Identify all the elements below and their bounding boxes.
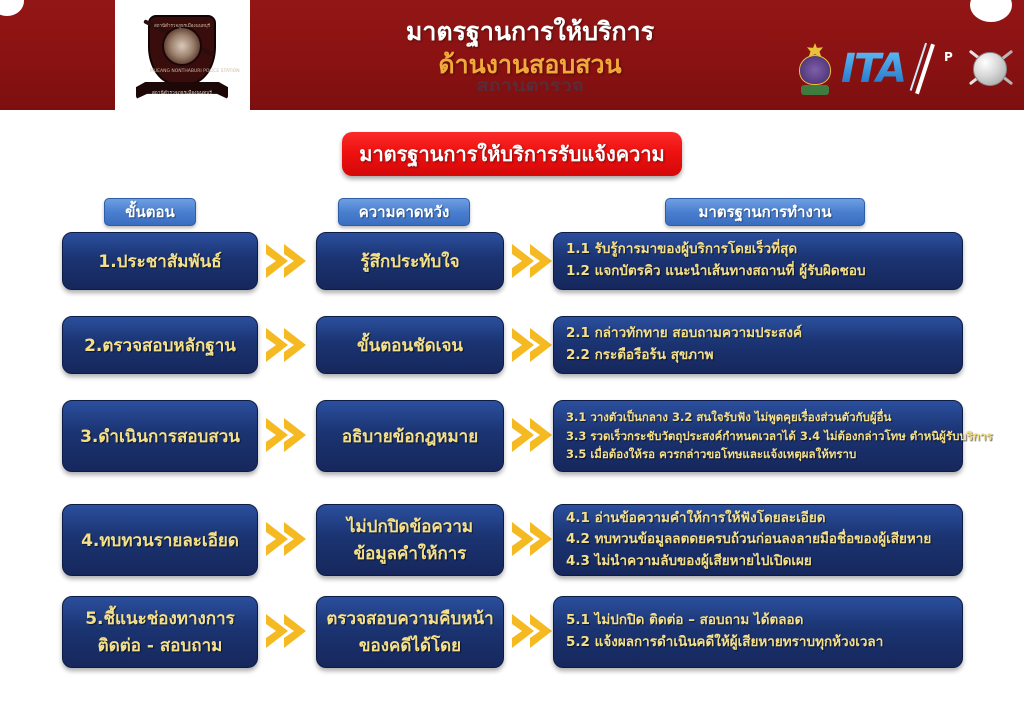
step-label: 1.ประชาสัมพันธ์ (98, 248, 221, 275)
step-cell[interactable]: 2.ตรวจสอบหลักฐาน (62, 316, 258, 374)
work-standard-cell[interactable]: 1.1 รับรู้การมาของผู้บริการโดยเร็วที่สุด… (553, 232, 963, 290)
chevron-right-arrow-icon (262, 238, 308, 284)
chevron-right-arrow-icon (262, 516, 308, 562)
chevron-right-arrow-icon (508, 238, 554, 284)
work-standard-line: 5.2 แจ้งผลการดำเนินคดีให้ผู้เสียหายทราบท… (566, 632, 883, 654)
service-standard-banner: มาตรฐานการให้บริการรับแจ้งความ (342, 132, 682, 176)
diagram-canvas: มาตรฐานการให้บริการรับแจ้งความ ขั้นตอน ค… (0, 110, 1024, 710)
shield-ribbon-text: สถานีตำรวจภูธรเมืองนนทบุรี (136, 89, 228, 96)
process-row: 2.ตรวจสอบหลักฐานขั้นตอนชัดเจน2.1 กล่าวทั… (0, 316, 1024, 374)
shield-arc-top-text: สถานีตำรวจภูธรเมืองนนทบุรี (150, 22, 214, 29)
header-title-group: มาตรฐานการให้บริการ ด้านงานสอบสวน สถานีต… (330, 16, 730, 91)
column-header-steps: ขั้นตอน (104, 198, 196, 226)
page-header: สถานีตำรวจภูธรเมืองนนทบุรี MUEANG NONTHA… (0, 0, 1024, 110)
page-title-secondary: ด้านงานสอบสวน (330, 49, 730, 82)
column-header-expectations: ความคาดหวัง (338, 198, 470, 226)
header-corner-decoration-left (0, 0, 24, 16)
work-standard-line: 1.2 แจกบัตรคิว แนะนำเส้นทางสถานที่ ผู้รั… (566, 261, 866, 283)
work-standard-line: 3.5 เมื่อต้องให้รอ ควรกล่าวขอโทษและแจ้งเ… (566, 445, 856, 464)
chevron-right-arrow-icon (508, 412, 554, 458)
process-row: 1.ประชาสัมพันธ์รู้สึกประทับใจ1.1 รับรู้ก… (0, 232, 1024, 290)
step-cell[interactable]: 3.ดำเนินการสอบสวน (62, 400, 258, 472)
step-cell[interactable]: 5.ชี้แนะช่องทางการติดต่อ - สอบถาม (62, 596, 258, 668)
work-standard-cell[interactable]: 5.1 ไม่ปกปิด ติดต่อ – สอบถาม ได้ตลอด5.2 … (553, 596, 963, 668)
work-standard-line: 4.1 อ่านข้อความคำให้การให้ฟังโดยละเอียด (566, 508, 826, 530)
work-standard-cell[interactable]: 3.1 วางตัวเป็นกลาง 3.2 สนใจรับฟัง ไม่พูด… (553, 400, 963, 472)
expectation-cell[interactable]: ไม่ปกปิดข้อความข้อมูลคำให้การ (316, 504, 504, 576)
ita-superscript-text: P (944, 50, 953, 64)
service-standard-banner-label: มาตรฐานการให้บริการรับแจ้งความ (359, 138, 664, 170)
police-badge-icon (967, 46, 1013, 92)
work-standard-line: 2.2 กระตือรือร้น สุขภาพ (566, 345, 714, 367)
process-row: 4.ทบทวนรายละเอียดไม่ปกปิดข้อความข้อมูลคำ… (0, 504, 1024, 576)
work-standard-cell[interactable]: 4.1 อ่านข้อความคำให้การให้ฟังโดยละเอียด4… (553, 504, 963, 576)
ita-logo-text: ITA (841, 49, 905, 89)
step-label: ติดต่อ - สอบถาม (98, 632, 223, 659)
expectation-label: ของคดีได้โดย (359, 632, 461, 659)
chevron-right-arrow-icon (508, 516, 554, 562)
expectation-cell[interactable]: อธิบายข้อกฎหมาย (316, 400, 504, 472)
step-cell[interactable]: 1.ประชาสัมพันธ์ (62, 232, 258, 290)
expectation-cell[interactable]: รู้สึกประทับใจ (316, 232, 504, 290)
shield-arc-bottom-text: MUEANG NONTHABURI POLICE STATION (150, 69, 214, 74)
work-standard-line: 2.1 กล่าวทักทาย สอบถามความประสงค์ (566, 323, 802, 345)
work-standard-line: 3.3 รวดเร็วกระชับวัตถุประสงค์กำหนดเวลาได… (566, 427, 992, 446)
work-standard-cell[interactable]: 2.1 กล่าวทักทาย สอบถามความประสงค์2.2 กระ… (553, 316, 963, 374)
expectation-label: รู้สึกประทับใจ (360, 248, 459, 275)
header-logo-group: ITA P (795, 38, 1010, 100)
page-title-primary: มาตรฐานการให้บริการ (330, 16, 730, 49)
chevron-right-arrow-icon (262, 608, 308, 654)
chevron-right-arrow-icon (262, 412, 308, 458)
step-label: 2.ตรวจสอบหลักฐาน (84, 332, 236, 359)
process-row: 3.ดำเนินการสอบสวนอธิบายข้อกฎหมาย3.1 วางต… (0, 400, 1024, 472)
expectation-label: ตรวจสอบความคืบหน้า (326, 605, 493, 632)
expectation-label: ขั้นตอนชัดเจน (357, 332, 463, 359)
chevron-right-arrow-icon (262, 322, 308, 368)
chevron-right-arrow-icon (508, 322, 554, 368)
ita-slash-icon (915, 44, 935, 95)
chevron-right-arrow-icon (508, 608, 554, 654)
column-header-row: ขั้นตอน ความคาดหวัง มาตรฐานการทำงาน (0, 198, 1024, 228)
process-row: 5.ชี้แนะช่องทางการติดต่อ - สอบถามตรวจสอบ… (0, 596, 1024, 668)
work-standard-line: 4.2 ทบทวนข้อมูลลตดยครบถ้วนก่อนลงลายมือชื… (566, 529, 931, 551)
work-standard-line: 3.1 วางตัวเป็นกลาง 3.2 สนใจรับฟัง ไม่พูด… (566, 408, 891, 427)
step-label: 4.ทบทวนรายละเอียด (81, 527, 239, 554)
expectation-label: อธิบายข้อกฎหมาย (342, 423, 478, 450)
page-title-clipped: สถานีตำรวจ (330, 81, 730, 91)
step-cell[interactable]: 4.ทบทวนรายละเอียด (62, 504, 258, 576)
column-header-work-standards: มาตรฐานการทำงาน (665, 198, 865, 226)
expectation-label: ข้อมูลคำให้การ (354, 540, 467, 567)
shield-emblem-icon (162, 26, 202, 66)
step-label: 3.ดำเนินการสอบสวน (80, 423, 240, 450)
work-standard-line: 4.3 ไม่นำความลับของผู้เสียหายไปเปิดเผย (566, 551, 812, 573)
ita-logo: ITA P (841, 43, 961, 95)
step-label: 5.ชี้แนะช่องทางการ (85, 605, 235, 632)
expectation-cell[interactable]: ขั้นตอนชัดเจน (316, 316, 504, 374)
police-station-shield-logo: สถานีตำรวจภูธรเมืองนนทบุรี MUEANG NONTHA… (128, 6, 236, 104)
work-standard-line: 5.1 ไม่ปกปิด ติดต่อ – สอบถาม ได้ตลอด (566, 610, 803, 632)
work-standard-line: 1.1 รับรู้การมาของผู้บริการโดยเร็วที่สุด (566, 239, 797, 261)
expectation-label: ไม่ปกปิดข้อความ (347, 513, 473, 540)
thai-garuda-emblem-icon (795, 43, 835, 95)
header-corner-decoration-right (970, 0, 1012, 22)
expectation-cell[interactable]: ตรวจสอบความคืบหน้าของคดีได้โดย (316, 596, 504, 668)
